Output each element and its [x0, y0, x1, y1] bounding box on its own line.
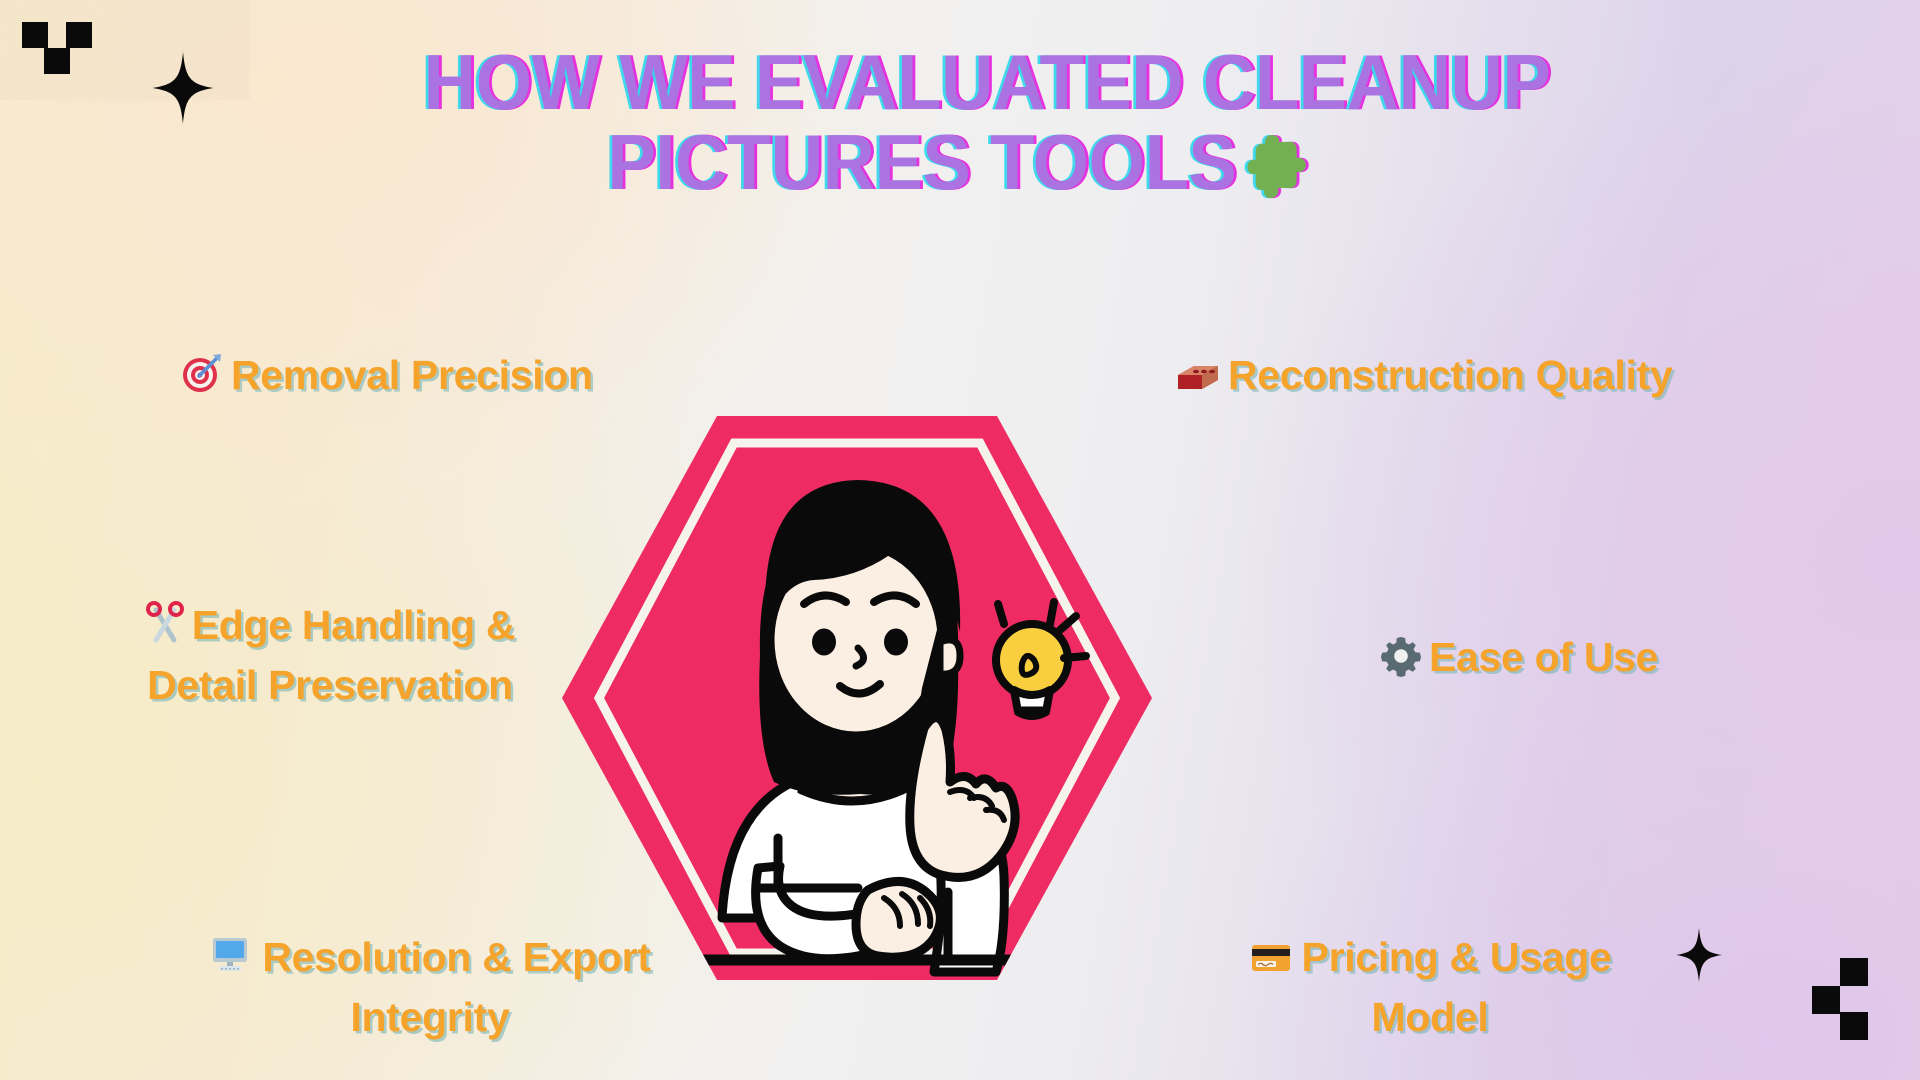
checker-square: [1840, 958, 1868, 986]
checker-square: [1812, 986, 1840, 1014]
credit-card-icon: [1249, 936, 1295, 990]
criteria-label: Ease of Use: [1429, 634, 1658, 680]
criteria-item-ease-of-use[interactable]: Ease of Use: [1380, 630, 1658, 690]
desktop-computer-icon: [209, 935, 255, 990]
puzzle-piece-icon: [1246, 131, 1313, 199]
sparkle-icon: [1676, 928, 1722, 982]
criteria-label: Edge Handling & Detail Preservation: [147, 602, 515, 708]
target-icon: [180, 351, 224, 408]
criteria-item-reconstruction-quality[interactable]: Reconstruction Quality: [1175, 348, 1805, 408]
criteria-label: Removal Precision: [231, 352, 593, 398]
criteria-label: Reconstruction Quality: [1228, 352, 1672, 398]
center-hexagon-illustration: [552, 398, 1162, 998]
infographic-canvas: HOW WE EVALUATED CLEANUP PICTURES TOOLS …: [0, 0, 1920, 1080]
brick-icon: [1175, 354, 1221, 408]
checkerboard-decoration-bottom-right: [1812, 958, 1884, 1036]
gear-icon: [1380, 635, 1422, 690]
scissors-icon: [145, 601, 185, 658]
page-title: HOW WE EVALUATED CLEANUP PICTURES TOOLS: [0, 44, 1920, 200]
title-line-1: HOW WE EVALUATED CLEANUP: [207, 44, 1714, 120]
title-line-2: PICTURES TOOLS: [207, 124, 1714, 200]
checker-square: [1840, 1012, 1868, 1040]
criteria-label: Pricing & Usage Model: [1302, 934, 1612, 1040]
criteria-item-pricing-usage[interactable]: Pricing & Usage Model: [1215, 930, 1645, 1044]
title-line-2-text: PICTURES TOOLS: [607, 118, 1236, 206]
criteria-item-removal-precision[interactable]: Removal Precision: [180, 348, 593, 408]
criteria-item-edge-handling[interactable]: Edge Handling & Detail Preservation: [95, 598, 565, 712]
